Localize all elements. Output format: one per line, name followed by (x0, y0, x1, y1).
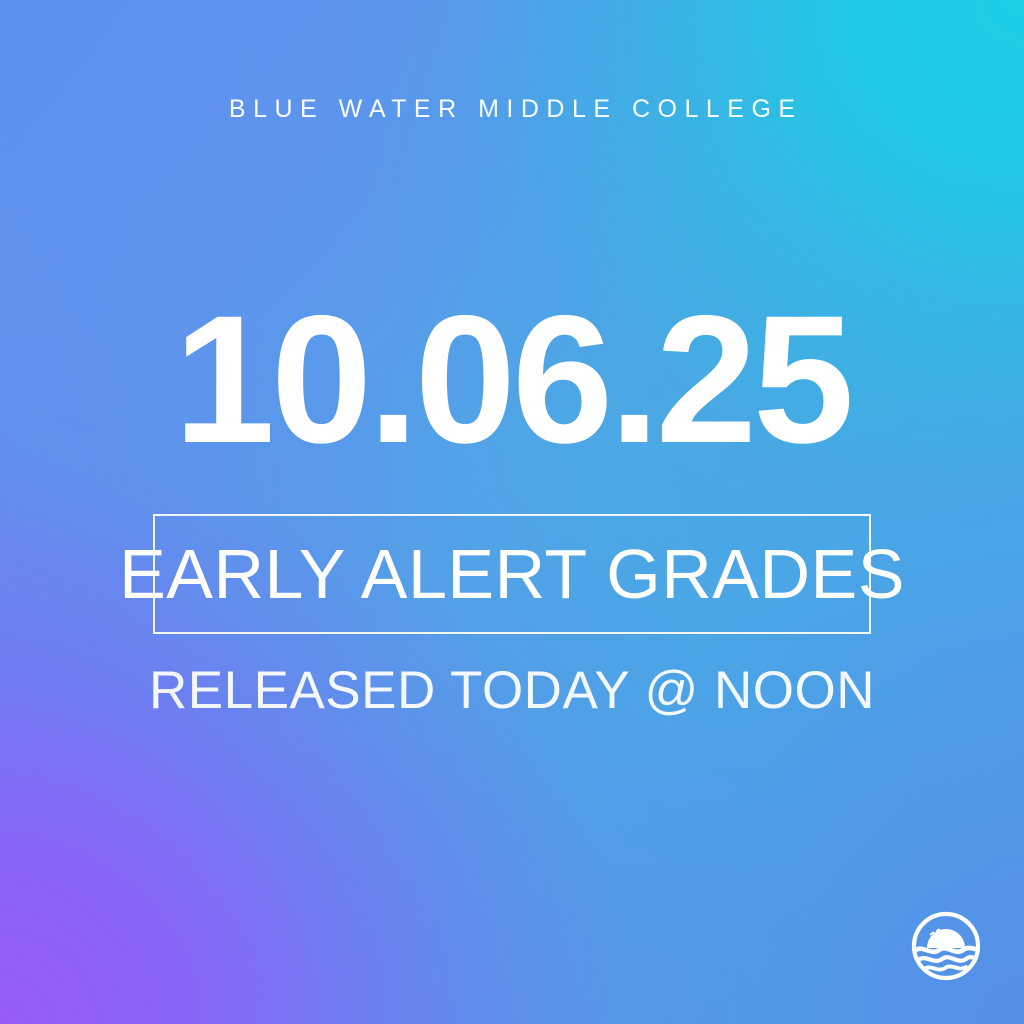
announcement-poster: BLUE WATER MIDDLE COLLEGE 10.06.25 EARLY… (0, 0, 1024, 1024)
release-time-text: RELEASED TODAY @ NOON (0, 662, 1024, 720)
organization-name: BLUE WATER MIDDLE COLLEGE (0, 96, 1024, 124)
headline-text: EARLY ALERT GRADES (119, 539, 905, 609)
event-date: 10.06.25 (0, 288, 1024, 470)
wave-sun-circle-logo-icon (910, 910, 982, 982)
headline-outline-box: EARLY ALERT GRADES (153, 514, 871, 634)
